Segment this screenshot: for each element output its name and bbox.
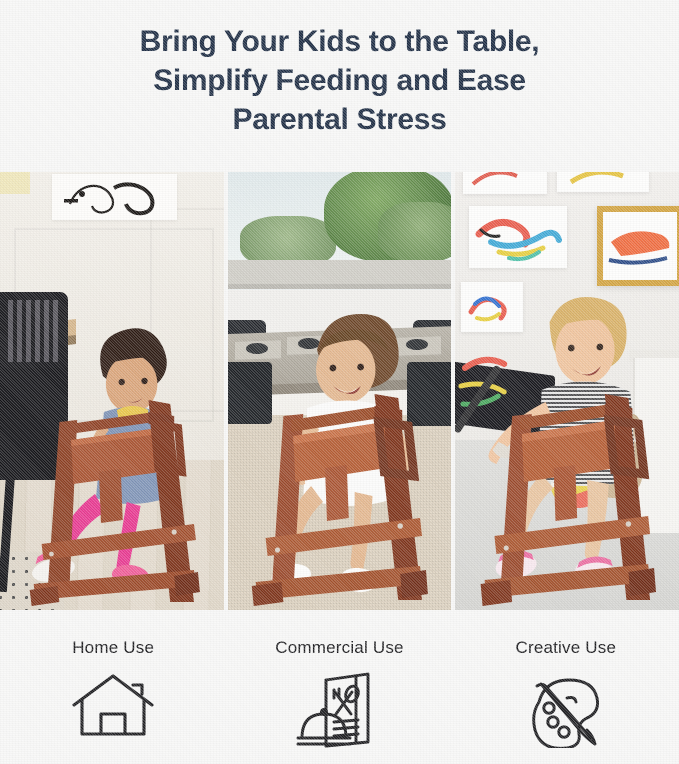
feature-label: Creative Use — [515, 638, 616, 658]
paint-palette-icon — [523, 672, 609, 753]
photo-creative-use — [455, 172, 679, 610]
high-chair-with-child — [0, 172, 224, 610]
headline-line-2: Simplify Feeding and Ease — [0, 61, 679, 100]
promo-banner: Bring Your Kids to the Table, Simplify F… — [0, 0, 679, 764]
feature-label: Home Use — [72, 638, 154, 658]
headline-line-3: Parental Stress — [0, 100, 679, 139]
feature-creative-use: Creative Use — [453, 614, 679, 764]
feature-home-use: Home Use — [0, 614, 226, 764]
photo-commercial-use — [228, 172, 452, 610]
photo-gallery — [0, 172, 679, 610]
feature-row: Home Use Commercial Use — [0, 614, 679, 764]
high-chair-with-child — [228, 172, 452, 610]
headline-line-1: Bring Your Kids to the Table, — [0, 22, 679, 61]
feature-commercial-use: Commercial Use — [226, 614, 452, 764]
restaurant-menu-icon — [296, 672, 382, 755]
house-icon — [70, 672, 156, 747]
photo-home-use — [0, 172, 224, 610]
high-chair-with-child — [455, 172, 679, 610]
page-title: Bring Your Kids to the Table, Simplify F… — [0, 22, 679, 139]
feature-label: Commercial Use — [275, 638, 403, 658]
